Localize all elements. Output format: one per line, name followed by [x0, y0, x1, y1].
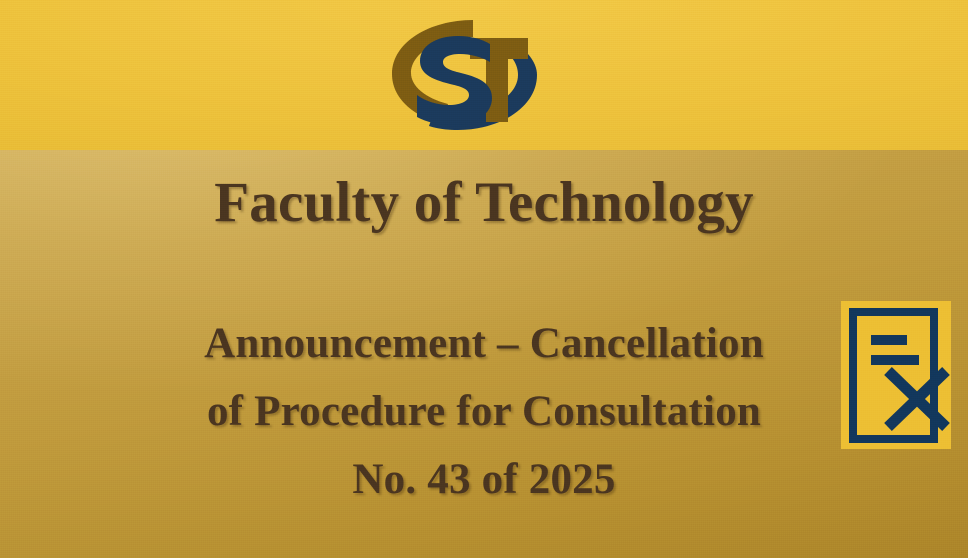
cancelled-document-icon [841, 301, 951, 449]
announcement-text: Announcement – Cancellation of Procedure… [0, 310, 968, 514]
page-title: Faculty of Technology [0, 168, 968, 238]
announcement-line-2: of Procedure for Consultation [0, 378, 968, 446]
announcement-line-1: Announcement – Cancellation [0, 310, 968, 378]
announcement-poster: Faculty of Technology Announcement – Can… [0, 0, 968, 558]
announcement-line-3: No. 43 of 2025 [0, 446, 968, 514]
cst-monogram-logo [378, 14, 544, 136]
